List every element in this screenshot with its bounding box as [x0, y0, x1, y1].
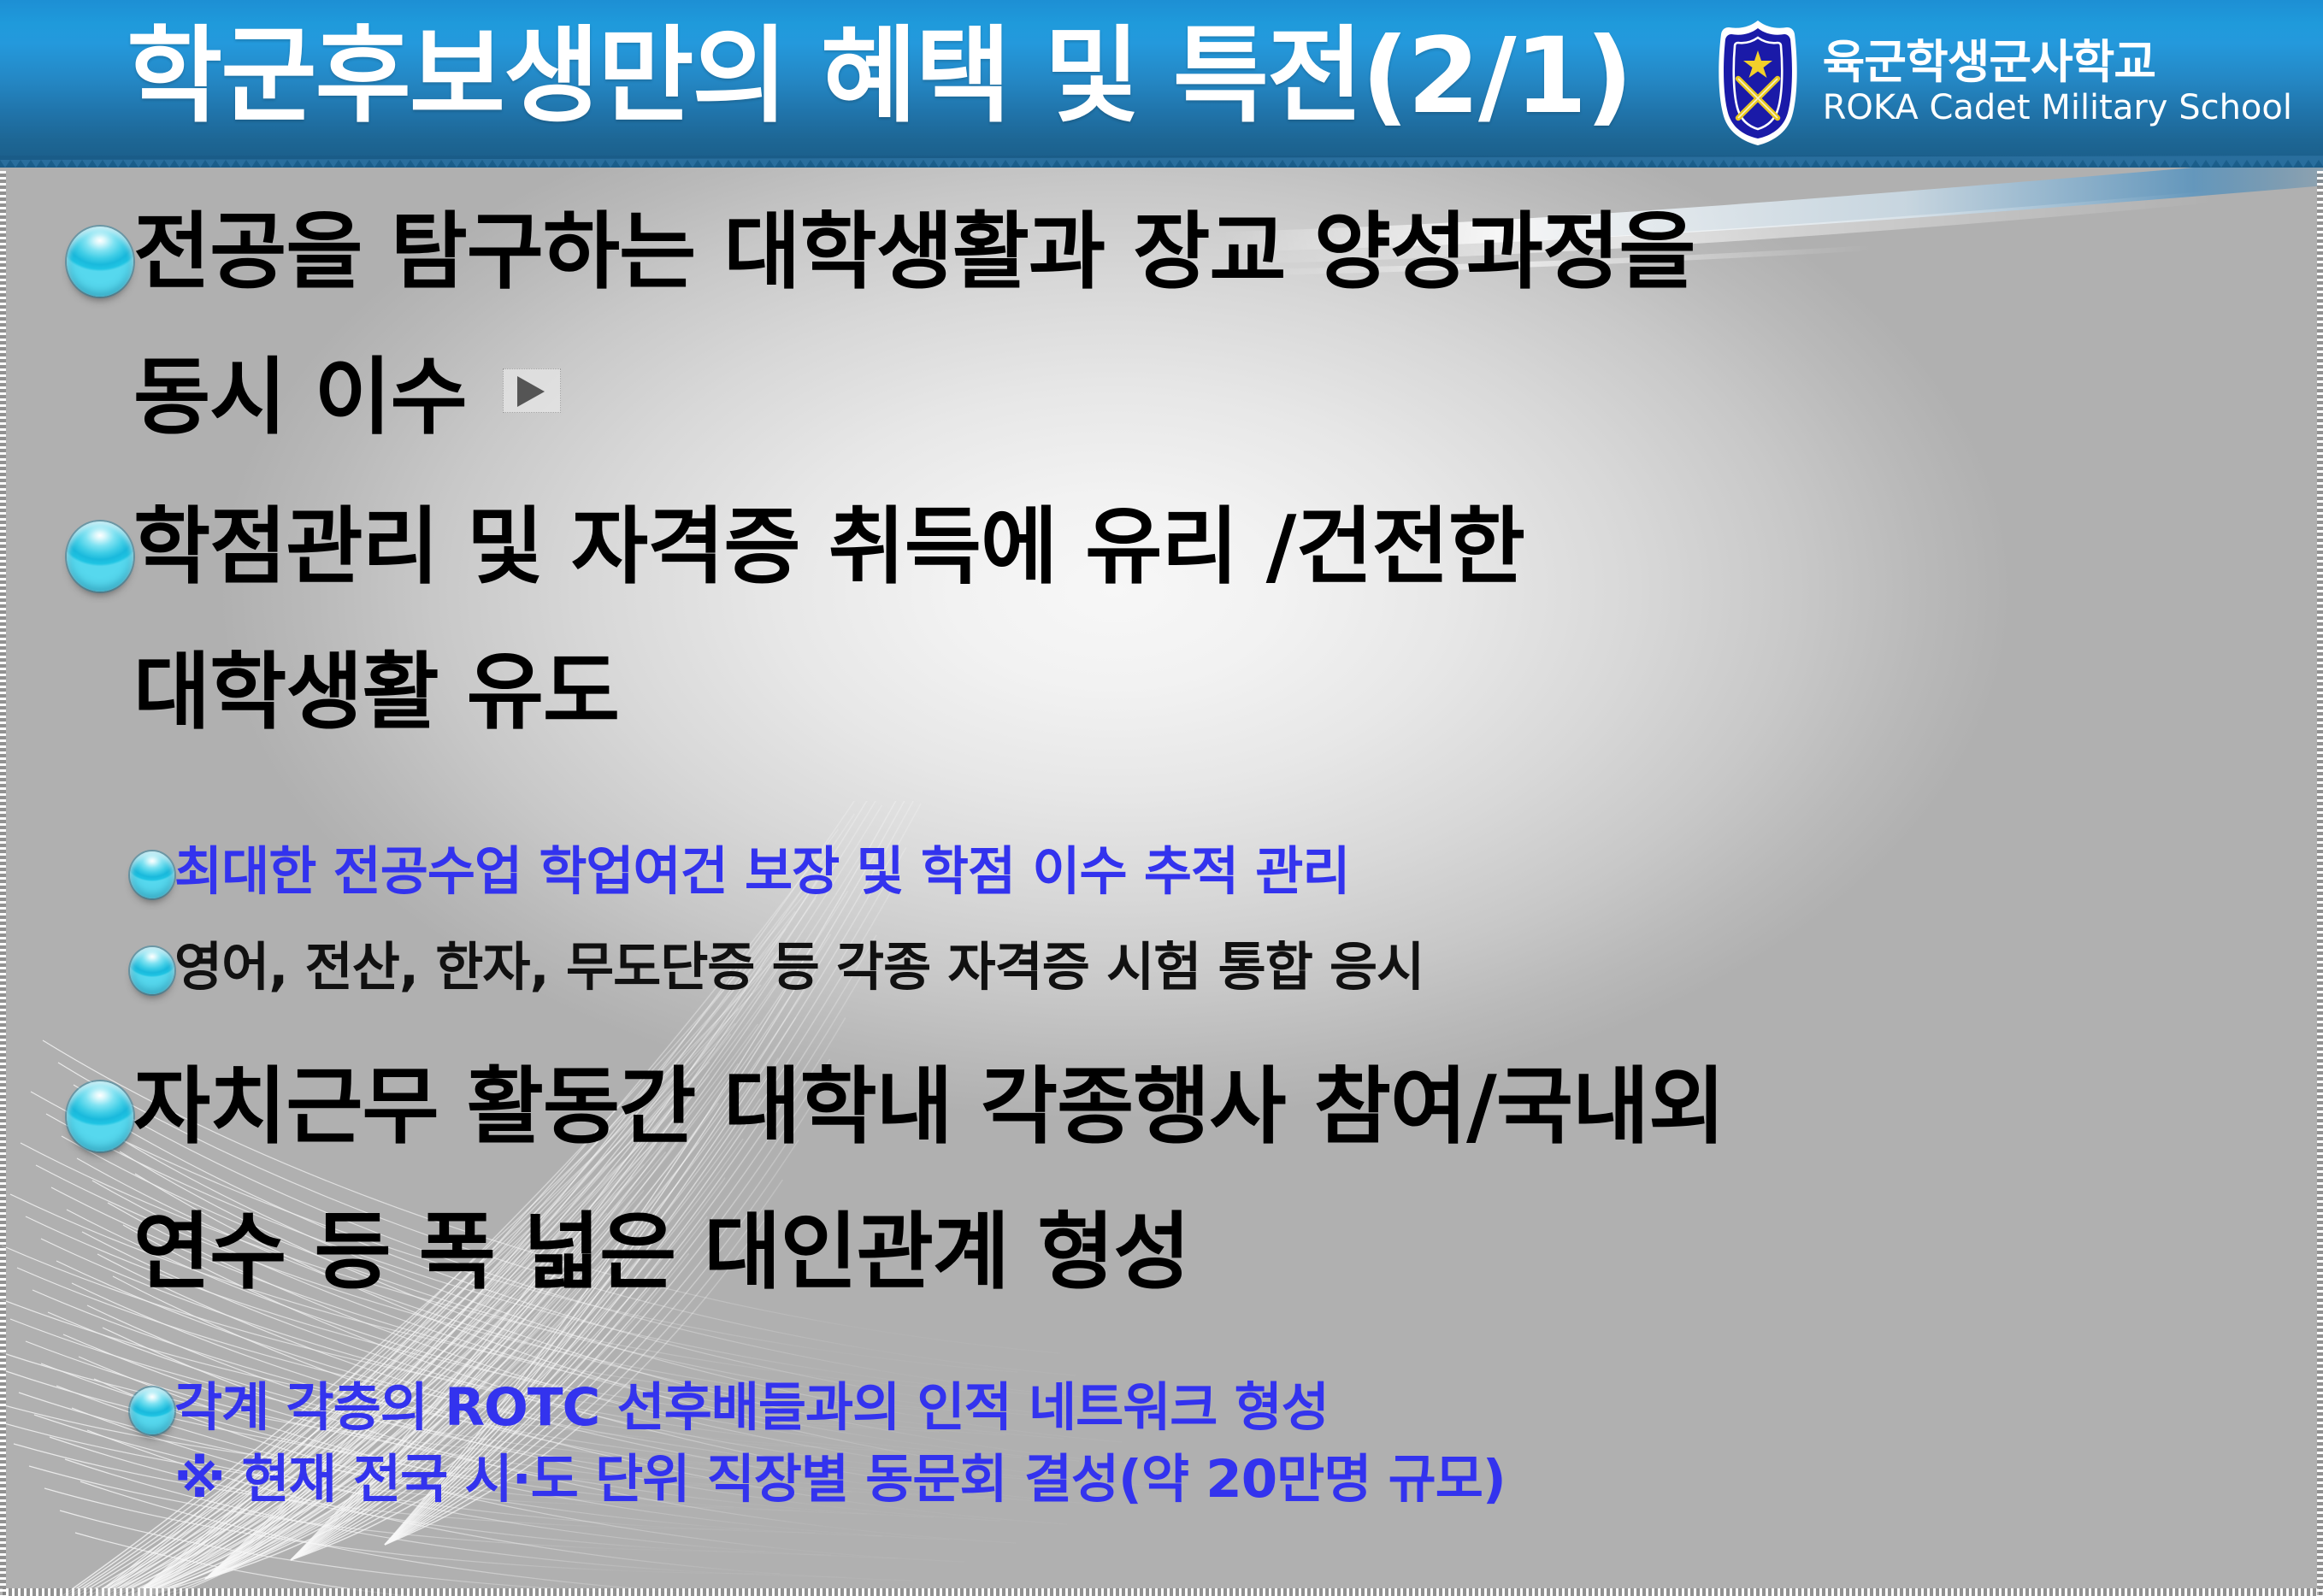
bullet-line: 학점관리 및 자격증 취득에 유리 /건전한 — [133, 501, 1524, 595]
sub-bullet-text-block: 각계 각층의 ROTC 선후배들과의 인적 네트워크 형성 ※ 현재 전국 시·… — [174, 1377, 1506, 1511]
header-zigzag-edge — [0, 156, 2323, 171]
bullet-item: 자치근무 활동간 대학내 각종행사 참여/국내외 연수 등 폭 넓은 대인관계 … — [67, 1061, 1725, 1300]
school-name-block: 육군학생군사학교 ROKA Cadet Military School — [1823, 38, 2292, 126]
sphere-bullet-small-icon — [130, 947, 174, 994]
sub-bullet-line: 각계 각층의 ROTC 선후배들과의 인적 네트워크 형성 — [174, 1377, 1506, 1439]
sub-bullet-text-block: 영어, 전산, 한자, 무도단증 등 각종 자격증 시험 통합 응시 — [174, 937, 1424, 998]
sub-bullet-line: 영어, 전산, 한자, 무도단증 등 각종 자격증 시험 통합 응시 — [174, 937, 1424, 998]
roka-shield-emblem-icon — [1710, 17, 1806, 147]
bullet-line: 전공을 탐구하는 대학생활과 장교 양성과정을 — [133, 206, 1695, 300]
sphere-bullet-small-icon — [130, 1387, 174, 1434]
bullet-item: 전공을 탐구하는 대학생활과 장교 양성과정을 동시 이수 — [67, 206, 1695, 445]
presentation-slide: 학군후보생만의 혜택 및 특전(2/1) 육군학생군사학교 ROKA Cadet — [0, 0, 2323, 1596]
bullet-item: 학점관리 및 자격증 취득에 유리 /건전한 대학생활 유도 — [67, 501, 1524, 740]
sphere-bullet-icon — [67, 227, 133, 297]
school-branding: 육군학생군사학교 ROKA Cadet Military School — [1710, 17, 2292, 147]
slide-content: 전공을 탐구하는 대학생활과 장교 양성과정을 동시 이수 학점관리 및 자격증… — [0, 168, 2323, 1596]
school-name-korean: 육군학생군사학교 — [1823, 38, 2292, 87]
slide-header-band: 학군후보생만의 혜택 및 특전(2/1) 육군학생군사학교 ROKA Cadet — [0, 0, 2323, 168]
bullet-text-block: 학점관리 및 자격증 취득에 유리 /건전한 대학생활 유도 — [133, 501, 1524, 740]
school-name-english: ROKA Cadet Military School — [1823, 90, 2292, 126]
sub-bullet-item: 각계 각층의 ROTC 선후배들과의 인적 네트워크 형성 ※ 현재 전국 시·… — [130, 1377, 1506, 1511]
sphere-bullet-icon — [67, 1081, 133, 1151]
sphere-bullet-small-icon — [130, 851, 174, 898]
sub-bullet-item: 최대한 전공수업 학업여건 보장 및 학점 이수 추적 관리 — [130, 841, 1350, 903]
play-triangle-icon[interactable] — [503, 368, 561, 413]
sub-bullet-text-block: 최대한 전공수업 학업여건 보장 및 학점 이수 추적 관리 — [174, 841, 1350, 903]
sub-bullet-note-line: ※ 현재 전국 시·도 단위 직장별 동문회 결성(약 20만명 규모) — [174, 1449, 1506, 1511]
sub-bullet-line: 최대한 전공수업 학업여건 보장 및 학점 이수 추적 관리 — [174, 841, 1350, 903]
bullet-line-with-action: 동시 이수 — [133, 351, 1695, 445]
bullet-text-block: 전공을 탐구하는 대학생활과 장교 양성과정을 동시 이수 — [133, 206, 1695, 445]
sub-bullet-item: 영어, 전산, 한자, 무도단증 등 각종 자격증 시험 통합 응시 — [130, 937, 1424, 998]
bullet-text-block: 자치근무 활동간 대학내 각종행사 참여/국내외 연수 등 폭 넓은 대인관계 … — [133, 1061, 1725, 1300]
bullet-line-text: 동시 이수 — [133, 349, 467, 446]
bullet-line: 대학생활 유도 — [133, 646, 1524, 740]
bullet-line: 자치근무 활동간 대학내 각종행사 참여/국내외 — [133, 1061, 1725, 1155]
bullet-line: 연수 등 폭 넓은 대인관계 형성 — [133, 1206, 1725, 1300]
sphere-bullet-icon — [67, 521, 133, 592]
page-title: 학군후보생만의 혜택 및 특전(2/1) — [127, 6, 1631, 147]
